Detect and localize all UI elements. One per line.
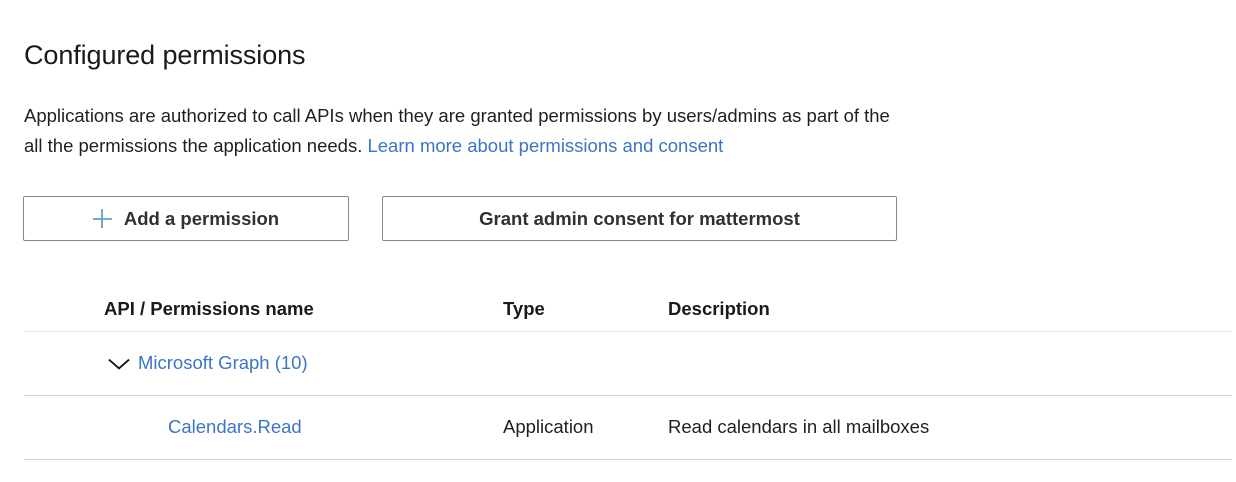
plus-icon xyxy=(93,209,112,228)
description-line-1: Applications are authorized to call APIs… xyxy=(24,101,1236,131)
chevron-down-icon[interactable] xyxy=(108,357,130,371)
table-row-divider-2 xyxy=(24,459,1232,460)
table-row: Calendars.Read Application Read calendar… xyxy=(24,396,1232,459)
column-header-description: Description xyxy=(668,298,770,320)
configured-permissions-pane: Configured permissions Applications are … xyxy=(0,0,1236,482)
grant-admin-consent-button[interactable]: Grant admin consent for mattermost xyxy=(382,196,897,241)
table-header-row: API / Permissions name Type Description xyxy=(24,286,1232,331)
permission-type: Application xyxy=(503,416,594,438)
description-line-2-prefix: all the permissions the application need… xyxy=(24,135,367,156)
add-permission-button[interactable]: Add a permission xyxy=(23,196,349,241)
page-title: Configured permissions xyxy=(24,38,305,72)
column-header-name: API / Permissions name xyxy=(104,298,314,320)
permission-description: Read calendars in all mailboxes xyxy=(668,416,929,438)
permissions-table: API / Permissions name Type Description … xyxy=(24,286,1232,460)
api-group-label-microsoft-graph[interactable]: Microsoft Graph (10) xyxy=(138,352,308,374)
table-group-row[interactable]: Microsoft Graph (10) xyxy=(24,332,1232,395)
description-text: Applications are authorized to call APIs… xyxy=(24,101,1236,161)
column-header-type: Type xyxy=(503,298,545,320)
permission-name-link[interactable]: Calendars.Read xyxy=(168,416,302,438)
grant-admin-consent-label: Grant admin consent for mattermost xyxy=(479,208,800,230)
add-permission-label: Add a permission xyxy=(124,208,279,230)
learn-more-link[interactable]: Learn more about permissions and consent xyxy=(367,135,723,156)
permissions-toolbar: Add a permission Grant admin consent for… xyxy=(23,196,897,241)
description-line-2: all the permissions the application need… xyxy=(24,131,1236,161)
